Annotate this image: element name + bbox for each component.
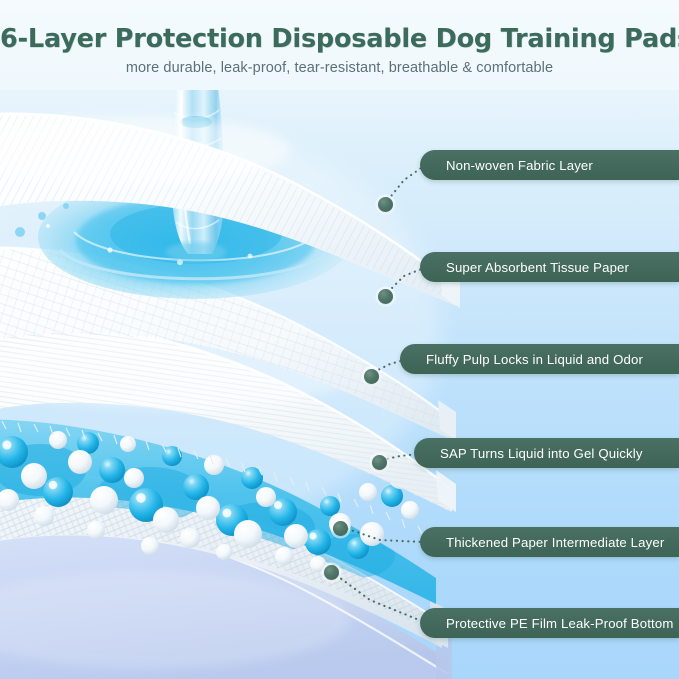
callout-label-4: SAP Turns Liquid into Gel Quickly — [440, 446, 643, 461]
callout-layer-5[interactable]: Thickened Paper Intermediate Layer — [420, 527, 679, 557]
page-title: 6-Layer Protection Disposable Dog Traini… — [0, 24, 679, 54]
product-infographic: 6-Layer Protection Disposable Dog Traini… — [0, 0, 679, 679]
marker-layer-2 — [378, 289, 393, 304]
callout-layer-4[interactable]: SAP Turns Liquid into Gel Quickly — [414, 438, 679, 468]
callout-label-1: Non-woven Fabric Layer — [446, 158, 593, 173]
pad-layer-illustration — [0, 0, 679, 679]
callout-layer-1[interactable]: Non-woven Fabric Layer — [420, 150, 679, 180]
marker-layer-4 — [372, 455, 387, 470]
marker-layer-3 — [364, 369, 379, 384]
callout-label-2: Super Absorbent Tissue Paper — [446, 260, 629, 275]
callout-layer-6[interactable]: Protective PE Film Leak-Proof Bottom — [420, 608, 679, 638]
marker-layer-1 — [378, 197, 393, 212]
callout-label-3: Fluffy Pulp Locks in Liquid and Odor — [426, 352, 643, 367]
marker-layer-6 — [324, 565, 339, 580]
header-band: 6-Layer Protection Disposable Dog Traini… — [0, 0, 679, 90]
callout-label-6: Protective PE Film Leak-Proof Bottom — [446, 616, 673, 631]
leader-line-1 — [388, 166, 424, 200]
marker-layer-5 — [333, 521, 348, 536]
page-subtitle: more durable, leak-proof, tear-resistant… — [0, 60, 679, 76]
callout-layer-2[interactable]: Super Absorbent Tissue Paper — [420, 252, 679, 282]
callout-label-5: Thickened Paper Intermediate Layer — [446, 535, 664, 550]
callout-layer-3[interactable]: Fluffy Pulp Locks in Liquid and Odor — [400, 344, 679, 374]
